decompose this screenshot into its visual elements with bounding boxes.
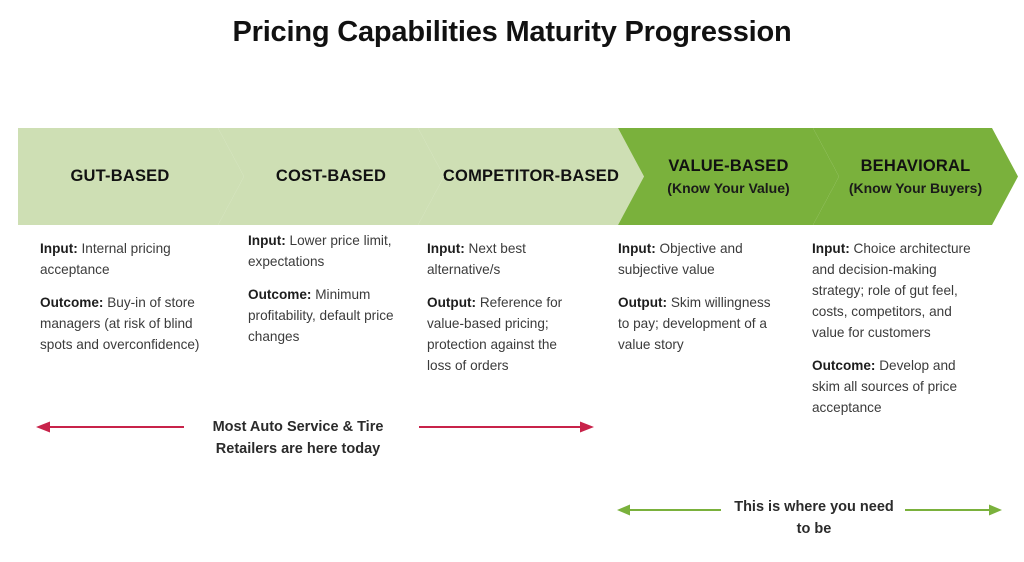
stage-label: COMPETITOR-BASED	[443, 166, 619, 187]
detail-term: Input:	[812, 241, 850, 256]
detail-term: Input:	[248, 233, 286, 248]
stage-details-competitor-based: Input: Next best alternative/s Output: R…	[427, 238, 582, 376]
page-title: Pricing Capabilities Maturity Progressio…	[0, 16, 1024, 49]
detail-term: Outcome:	[40, 295, 103, 310]
stage-details-value-based: Input: Objective and subjective value Ou…	[618, 238, 778, 355]
detail-item: Input: Objective and subjective value	[618, 238, 778, 280]
arrow-left-green-icon	[617, 503, 721, 517]
detail-item: Input: Lower price limit, expectations	[248, 230, 403, 272]
detail-item: Outcome: Develop and skim all sources of…	[812, 355, 972, 418]
stage-details-behavioral: Input: Choice architecture and decision-…	[812, 238, 972, 419]
stage-sublabel: (Know Your Value)	[667, 179, 789, 197]
stage-chevron-cost-based[interactable]: COST-BASED	[218, 128, 444, 225]
detail-term: Output:	[427, 295, 476, 310]
detail-item: Outcome: Minimum profitability, default …	[248, 284, 403, 347]
detail-item: Input: Next best alternative/s	[427, 238, 582, 280]
annotation-target-state-label: This is where you need to be	[728, 497, 900, 541]
detail-item: Input: Internal pricing acceptance	[40, 238, 208, 280]
stage-label: VALUE-BASED	[668, 156, 788, 177]
detail-item: Output: Reference for value-based pricin…	[427, 292, 582, 376]
arrow-right-red-icon	[419, 420, 594, 434]
detail-item: Outcome: Buy-in of store managers (at ri…	[40, 292, 208, 355]
stage-label: COST-BASED	[276, 166, 386, 187]
stage-chevron-gut-based[interactable]: GUT-BASED	[18, 128, 244, 225]
arrow-left-red-icon	[36, 420, 184, 434]
stage-details-gut-based: Input: Internal pricing acceptance Outco…	[40, 238, 208, 355]
detail-term: Input:	[427, 241, 465, 256]
arrow-right-green-icon	[905, 503, 1002, 517]
detail-item: Input: Choice architecture and decision-…	[812, 238, 972, 343]
detail-term: Outcome:	[248, 287, 311, 302]
stage-label: BEHAVIORAL	[861, 156, 971, 177]
annotation-current-state-label: Most Auto Service & Tire Retailers are h…	[196, 417, 400, 461]
detail-term: Input:	[618, 241, 656, 256]
stage-label: GUT-BASED	[71, 166, 170, 187]
stage-chevron-competitor-based[interactable]: COMPETITOR-BASED	[418, 128, 644, 225]
detail-term: Outcome:	[812, 358, 875, 373]
stage-details-cost-based: Input: Lower price limit, expectations O…	[248, 230, 403, 347]
detail-item: Output: Skim willingness to pay; develop…	[618, 292, 778, 355]
stage-sublabel: (Know Your Buyers)	[849, 179, 982, 197]
stage-chevron-value-based[interactable]: VALUE-BASED (Know Your Value)	[618, 128, 839, 225]
maturity-chevron-banner: GUT-BASED COST-BASED COMPETITOR-BASED VA…	[18, 128, 1000, 225]
detail-term: Output:	[618, 295, 667, 310]
stage-chevron-behavioral[interactable]: BEHAVIORAL (Know Your Buyers)	[813, 128, 1018, 225]
detail-term: Input:	[40, 241, 78, 256]
